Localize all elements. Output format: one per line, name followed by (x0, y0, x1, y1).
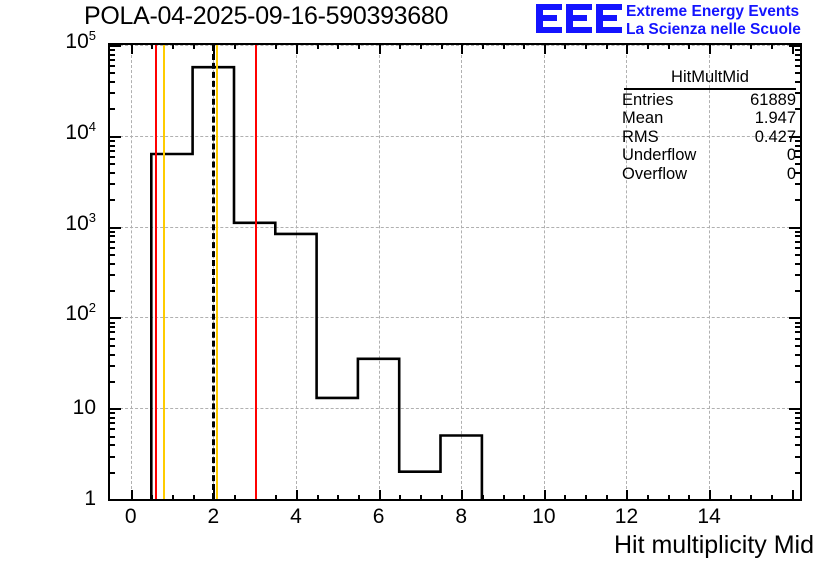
tick-mark (461, 43, 463, 54)
tick-mark (108, 274, 115, 276)
tick-mark (420, 43, 422, 49)
stats-title: HitMultMid (624, 68, 796, 90)
stats-row: Mean1.947 (610, 109, 800, 128)
tick-mark (108, 381, 115, 383)
tick-mark (795, 65, 802, 67)
tick-mark (151, 495, 153, 501)
tick-mark (795, 254, 802, 256)
tick-mark (108, 408, 121, 410)
tick-mark (108, 136, 121, 138)
x-axis-title: Hit multiplicity Mid (614, 531, 814, 560)
tick-mark (795, 417, 802, 419)
tick-mark (503, 43, 505, 49)
tick-mark (108, 241, 115, 243)
tick-mark (647, 495, 649, 501)
tick-mark (108, 338, 115, 340)
tick-mark (108, 331, 115, 333)
tick-mark (585, 43, 587, 49)
tick-mark (626, 43, 628, 54)
tick-mark (108, 247, 115, 249)
tick-mark (317, 43, 319, 49)
tick-mark (108, 231, 115, 233)
tick-mark (151, 43, 153, 49)
page-title: POLA-04-2025-09-16-590393680 (84, 2, 448, 31)
tick-mark (108, 156, 115, 158)
tick-mark (789, 499, 802, 501)
tick-mark (668, 43, 670, 49)
tick-mark (234, 43, 236, 49)
stats-row-label: Overflow (622, 165, 687, 184)
stats-row: Entries61889 (610, 91, 800, 110)
tick-mark (108, 499, 121, 501)
tick-mark (379, 490, 381, 501)
tick-mark (108, 428, 115, 430)
marker-line-1 (163, 45, 165, 499)
histogram-trace (151, 67, 482, 499)
tick-mark (789, 408, 802, 410)
stats-box: HitMultMid Entries61889Mean1.947RMS0.427… (610, 68, 800, 184)
stats-row-value: 0 (787, 165, 796, 184)
x-tick-label: 14 (679, 505, 739, 529)
eee-logo: Extreme Energy Events La Scienza nelle S… (536, 1, 836, 41)
tick-mark (108, 227, 121, 229)
marker-line-3 (216, 45, 218, 499)
tick-mark (108, 92, 115, 94)
tick-mark (399, 495, 401, 501)
tick-mark (296, 490, 298, 501)
marker-line-4 (255, 45, 257, 499)
x-tick-label: 0 (101, 505, 161, 529)
logo-line-1: Extreme Energy Events (626, 3, 799, 21)
tick-mark (108, 345, 115, 347)
tick-mark (795, 235, 802, 237)
tick-mark (544, 43, 546, 54)
tick-mark (108, 322, 115, 324)
tick-mark (379, 43, 381, 54)
tick-mark (108, 108, 115, 110)
tick-mark (108, 59, 115, 61)
tick-mark (108, 354, 115, 356)
tick-mark (108, 456, 115, 458)
tick-mark (771, 43, 773, 49)
tick-mark (606, 495, 608, 501)
tick-mark (795, 231, 802, 233)
tick-mark (275, 43, 277, 49)
tick-mark (108, 163, 115, 165)
tick-mark (441, 495, 443, 501)
tick-mark (795, 322, 802, 324)
tick-mark (795, 365, 802, 367)
tick-mark (399, 43, 401, 49)
stats-row-value: 0 (787, 146, 796, 165)
stats-row-label: Underflow (622, 146, 696, 165)
tick-mark (108, 290, 115, 292)
tick-mark (108, 199, 115, 201)
tick-mark (337, 43, 339, 49)
tick-mark (193, 43, 195, 49)
tick-mark (750, 495, 752, 501)
tick-mark (108, 326, 115, 328)
tick-mark (108, 254, 115, 256)
tick-mark (523, 495, 525, 501)
stats-rows: Entries61889Mean1.947RMS0.427Underflow0O… (610, 91, 800, 184)
tick-mark (441, 43, 443, 49)
tick-mark (795, 49, 802, 51)
tick-mark (795, 338, 802, 340)
tick-mark (585, 495, 587, 501)
tick-mark (795, 331, 802, 333)
tick-mark (317, 495, 319, 501)
tick-mark (730, 43, 732, 49)
y-tick-label: 102 (8, 302, 96, 326)
tick-mark (626, 490, 628, 501)
tick-mark (172, 495, 174, 501)
tick-mark (108, 81, 115, 83)
tick-mark (795, 183, 802, 185)
tick-mark (131, 490, 133, 501)
tick-mark (789, 45, 802, 47)
tick-mark (172, 43, 174, 49)
y-tick-label: 104 (8, 121, 96, 145)
tick-mark (771, 495, 773, 501)
logo-line-2: La Scienza nelle Scuole (626, 21, 801, 39)
tick-mark (795, 241, 802, 243)
tick-mark (709, 490, 711, 501)
tick-mark (795, 436, 802, 438)
tick-mark (108, 412, 115, 414)
tick-mark (108, 72, 115, 74)
tick-mark (795, 199, 802, 201)
tick-mark (461, 490, 463, 501)
tick-mark (795, 428, 802, 430)
tick-mark (108, 472, 115, 474)
tick-mark (503, 495, 505, 501)
tick-mark (108, 365, 115, 367)
tick-mark (564, 43, 566, 49)
stats-row-value: 1.947 (755, 109, 796, 128)
tick-mark (795, 472, 802, 474)
tick-mark (275, 495, 277, 501)
tick-mark (296, 43, 298, 54)
tick-mark (795, 326, 802, 328)
tick-mark (709, 43, 711, 54)
tick-mark (108, 54, 115, 56)
tick-mark (193, 495, 195, 501)
tick-mark (795, 444, 802, 446)
tick-mark (647, 43, 649, 49)
stats-row-label: RMS (622, 128, 659, 147)
x-tick-label: 12 (596, 505, 656, 529)
y-tick-label: 103 (8, 212, 96, 236)
tick-mark (750, 43, 752, 49)
tick-mark (688, 43, 690, 49)
stats-row: RMS0.427 (610, 128, 800, 147)
x-tick-label: 8 (431, 505, 491, 529)
tick-mark (795, 412, 802, 414)
tick-mark (795, 247, 802, 249)
tick-mark (606, 43, 608, 49)
tick-mark (108, 183, 115, 185)
tick-mark (795, 59, 802, 61)
tick-mark (108, 235, 115, 237)
tick-mark (482, 43, 484, 49)
tick-mark (795, 381, 802, 383)
marker-line-0 (155, 45, 157, 499)
x-tick-label: 2 (183, 505, 243, 529)
tick-mark (108, 65, 115, 67)
tick-mark (108, 263, 115, 265)
tick-mark (795, 345, 802, 347)
stats-row: Underflow0 (610, 146, 800, 165)
tick-mark (420, 495, 422, 501)
tick-mark (564, 495, 566, 501)
root-canvas: POLA-04-2025-09-16-590393680 Extreme Ene… (0, 0, 836, 572)
tick-mark (358, 495, 360, 501)
tick-mark (108, 436, 115, 438)
tick-mark (108, 172, 115, 174)
tick-mark (234, 495, 236, 501)
stats-row-label: Entries (622, 91, 673, 110)
tick-mark (108, 145, 115, 147)
tick-mark (108, 417, 115, 419)
tick-mark (795, 263, 802, 265)
tick-mark (789, 227, 802, 229)
tick-mark (730, 495, 732, 501)
x-tick-label: 10 (514, 505, 574, 529)
tick-mark (108, 444, 115, 446)
stats-row-value: 61889 (750, 91, 796, 110)
tick-mark (795, 274, 802, 276)
tick-mark (544, 490, 546, 501)
tick-mark (108, 150, 115, 152)
tick-mark (108, 140, 115, 142)
x-tick-label: 6 (349, 505, 409, 529)
eee-logo-icon (536, 1, 622, 39)
tick-mark (131, 43, 133, 54)
tick-mark (108, 422, 115, 424)
tick-mark (108, 49, 115, 51)
tick-mark (795, 422, 802, 424)
tick-mark (108, 317, 121, 319)
stats-row-label: Mean (622, 109, 663, 128)
y-tick-label: 1 (8, 487, 96, 511)
stats-row-value: 0.427 (755, 128, 796, 147)
tick-mark (795, 54, 802, 56)
tick-mark (108, 45, 121, 47)
tick-mark (795, 290, 802, 292)
y-tick-label: 105 (8, 30, 96, 54)
tick-mark (668, 495, 670, 501)
marker-line-2 (212, 45, 215, 499)
stats-row: Overflow0 (610, 165, 800, 184)
tick-mark (688, 495, 690, 501)
tick-mark (482, 495, 484, 501)
tick-mark (358, 43, 360, 49)
tick-mark (795, 354, 802, 356)
tick-mark (337, 495, 339, 501)
y-tick-label: 10 (8, 396, 96, 420)
tick-mark (795, 456, 802, 458)
tick-mark (523, 43, 525, 49)
tick-mark (789, 317, 802, 319)
x-tick-label: 4 (266, 505, 326, 529)
